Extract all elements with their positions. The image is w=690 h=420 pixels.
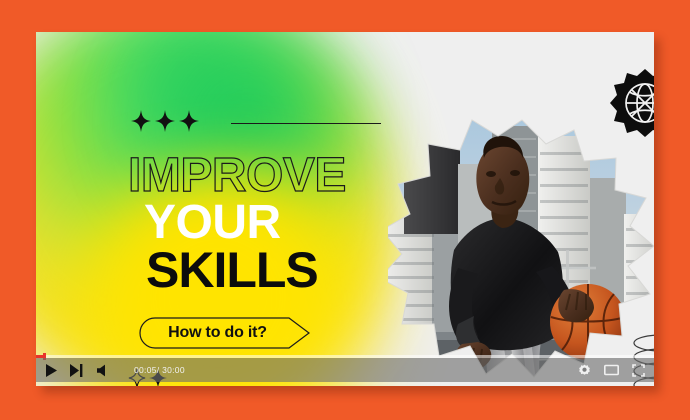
basketball-player-photo xyxy=(388,118,654,386)
headline-line-3: SKILLS xyxy=(146,247,346,294)
volume-button[interactable] xyxy=(96,364,109,377)
next-button[interactable] xyxy=(70,364,83,377)
video-thumbnail-card[interactable]: IMPROVE YOUR SKILLS How to do it? xyxy=(36,32,654,386)
settings-button[interactable] xyxy=(578,364,591,377)
headline-line-2: YOUR xyxy=(144,201,346,246)
play-button[interactable] xyxy=(45,364,57,377)
sparkle-row-top xyxy=(131,110,199,137)
theater-mode-button[interactable] xyxy=(604,364,619,376)
screenshot-root: IMPROVE YOUR SKILLS How to do it? xyxy=(0,0,690,420)
player-control-bar: 00:05/ 30:00 xyxy=(36,358,654,382)
cta-label: How to do it? xyxy=(139,317,304,349)
fullscreen-button[interactable] xyxy=(632,364,645,377)
cta-shape: How to do it? xyxy=(139,317,311,349)
sparkle-icon xyxy=(131,110,151,137)
sparkle-icon xyxy=(179,110,199,137)
cta-button[interactable]: How to do it? xyxy=(139,317,311,349)
headline-group: IMPROVE YOUR SKILLS xyxy=(128,154,346,294)
sparkle-icon xyxy=(155,110,175,137)
time-display: 00:05/ 30:00 xyxy=(134,365,185,375)
divider-rule xyxy=(231,123,381,124)
globe-badge[interactable] xyxy=(609,68,654,138)
headline-line-1: IMPROVE xyxy=(128,154,346,199)
